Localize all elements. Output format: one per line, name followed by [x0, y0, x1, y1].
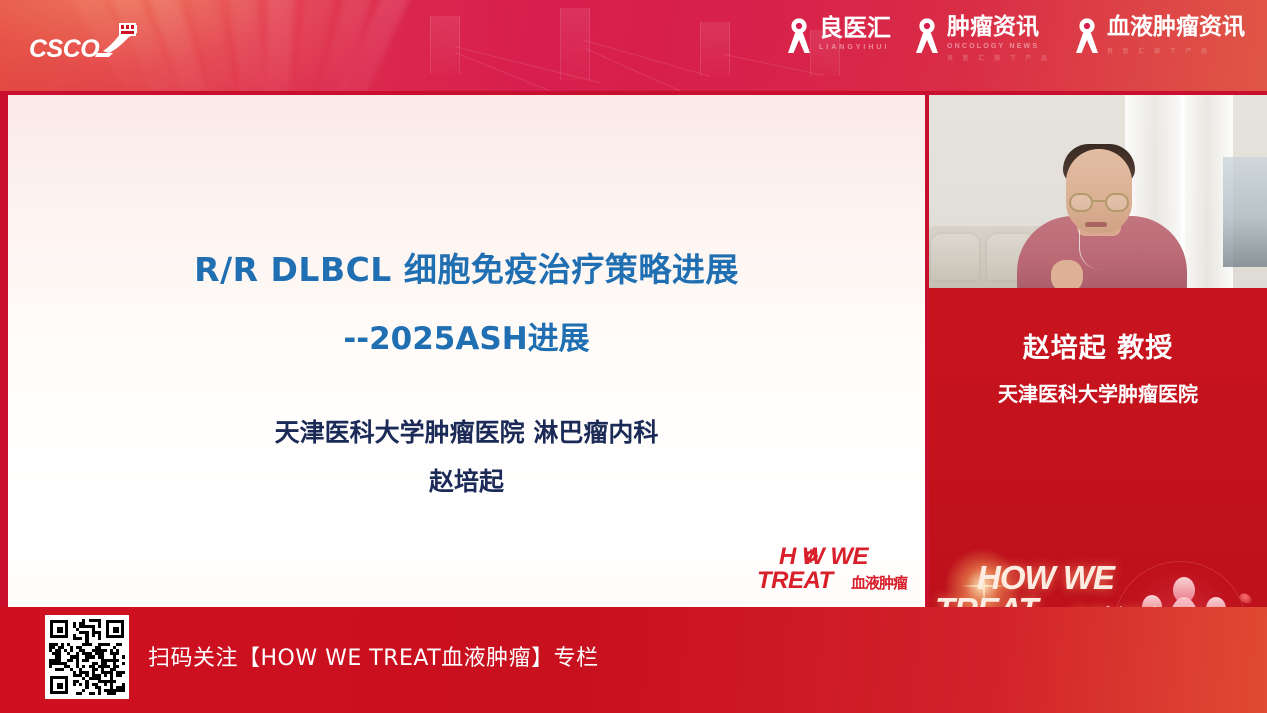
- ribbon-icon: [786, 17, 812, 55]
- slide-title-line1: R/R DLBCL 细胞免疫治疗策略进展: [8, 243, 925, 291]
- ribbon-icon: [914, 17, 940, 55]
- presenter-hand: [1051, 260, 1083, 288]
- gear-sun-icon: [804, 549, 818, 563]
- brand-name: 良医汇: [819, 16, 891, 40]
- bottom-promo-bar: 扫码关注【HOW WE TREAT血液肿瘤】专栏: [0, 607, 1267, 713]
- brand-oncology-news[interactable]: 肿瘤资讯 ONCOLOGY NEWS 良 医 汇 旗 下 产 品: [914, 16, 1051, 62]
- csco-logo[interactable]: CSCO: [27, 21, 139, 65]
- window: [1223, 157, 1267, 267]
- brand-name: 肿瘤资讯: [947, 16, 1051, 39]
- ribbon-icon: [1074, 17, 1100, 55]
- qr-code-matrix: [49, 619, 125, 695]
- presentation-slide[interactable]: R/R DLBCL 细胞免疫治疗策略进展 --2025ASH进展 天津医科大学肿…: [8, 95, 925, 607]
- speaker-affiliation: 天津医科大学肿瘤医院: [929, 378, 1267, 407]
- presenter-mouth: [1085, 222, 1107, 227]
- glasses-lens: [1105, 193, 1129, 212]
- bottom-promo-text: 扫码关注【HOW WE TREAT血液肿瘤】专栏: [148, 640, 599, 672]
- watermark-cn: 血液肿瘤: [851, 572, 907, 593]
- cushion: [931, 234, 979, 280]
- presenter-face: [1066, 149, 1132, 233]
- slide-author: 赵培起: [8, 462, 925, 498]
- how-we-treat-watermark: H W WE TREAT 血液肿瘤: [757, 541, 907, 597]
- earphone-cable: [1079, 230, 1123, 270]
- qr-code[interactable]: [45, 615, 129, 699]
- brand-subtitle: ONCOLOGY NEWS: [947, 43, 1051, 50]
- brand-subtitle-secondary: 良 医 汇 旗 下 产 品: [1107, 46, 1245, 55]
- qr-finder-pattern: [106, 620, 124, 638]
- great-wall-icon: [89, 21, 139, 59]
- slide-title-line2: --2025ASH进展: [8, 313, 925, 358]
- header-brand-logos: 良医汇 LIANGYIHUI 肿瘤资讯 ONCOLOGY NEWS 良 医 汇 …: [786, 16, 1245, 72]
- brand-subtitle-secondary: 良 医 汇 旗 下 产 品: [947, 53, 1051, 62]
- speaker-video-feed[interactable]: [929, 95, 1267, 288]
- slide-affiliation: 天津医科大学肿瘤医院 淋巴瘤内科: [8, 413, 925, 449]
- brand-hematologic-oncology-news[interactable]: 血液肿瘤资讯 良 医 汇 旗 下 产 品: [1074, 16, 1245, 55]
- glasses-bridge: [1093, 200, 1105, 202]
- watermark-line2: TREAT: [757, 567, 833, 595]
- qr-finder-pattern: [50, 620, 68, 638]
- qr-finder-pattern: [50, 676, 68, 694]
- brand-liangyihui[interactable]: 良医汇 LIANGYIHUI: [786, 16, 891, 55]
- brand-name: 血液肿瘤资讯: [1107, 16, 1245, 39]
- top-header-bar: CSCO 良医汇 LIANGYIHUI: [0, 0, 1267, 91]
- brand-subtitle: LIANGYIHUI: [819, 44, 891, 51]
- glasses-lens: [1069, 193, 1093, 212]
- speaker-name: 赵培起 教授: [929, 326, 1267, 365]
